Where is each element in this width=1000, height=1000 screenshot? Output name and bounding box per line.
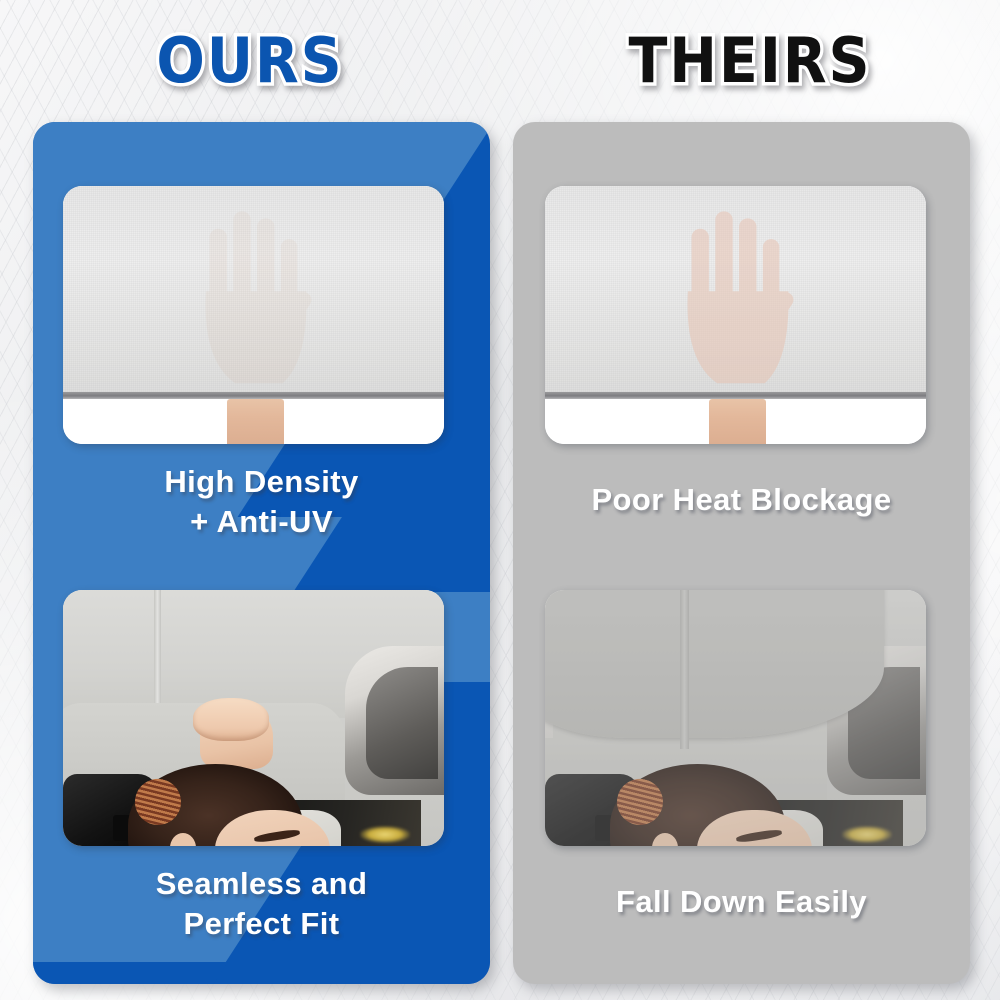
- heading-ours: OURS: [20, 24, 480, 97]
- caption-theirs-top: Poor Heat Blockage: [513, 480, 970, 520]
- panel-ours: High Density + Anti-UV: [33, 122, 490, 984]
- car-interior-scene: [545, 590, 926, 846]
- caption-ours-top: High Density + Anti-UV: [33, 462, 490, 543]
- raised-fist: [193, 698, 269, 742]
- wrist-below-shade: [709, 399, 766, 444]
- wrist-below-shade: [227, 399, 284, 444]
- diagonal-band-bottom-left: [33, 962, 228, 984]
- car-interior-fallen-shade-photo: [545, 590, 926, 846]
- headings-row: OURS THEIRS: [0, 24, 1000, 110]
- heading-theirs: THEIRS: [520, 24, 980, 97]
- screen-scene: [545, 186, 926, 444]
- hand-silhouette-icon: [644, 201, 827, 392]
- shade-bottom-bar: [545, 392, 926, 399]
- car-interior-scene: [63, 590, 444, 846]
- panel-theirs: Poor Heat Blockage: [513, 122, 970, 984]
- window-light-glow: [360, 826, 410, 844]
- rear-window-tint: [366, 667, 438, 780]
- caption-theirs-bottom: Fall Down Easily: [513, 882, 970, 922]
- mesh-screen-hand-blocked-photo: [63, 186, 444, 444]
- hand-silhouette-icon: [162, 201, 345, 392]
- screen-scene: [63, 186, 444, 444]
- mesh-screen-hand-visible-photo: [545, 186, 926, 444]
- gray-overlay: [545, 590, 926, 846]
- car-interior-perfect-fit-photo: [63, 590, 444, 846]
- shade-bottom-bar: [63, 392, 444, 399]
- caption-ours-bottom: Seamless and Perfect Fit: [33, 864, 490, 945]
